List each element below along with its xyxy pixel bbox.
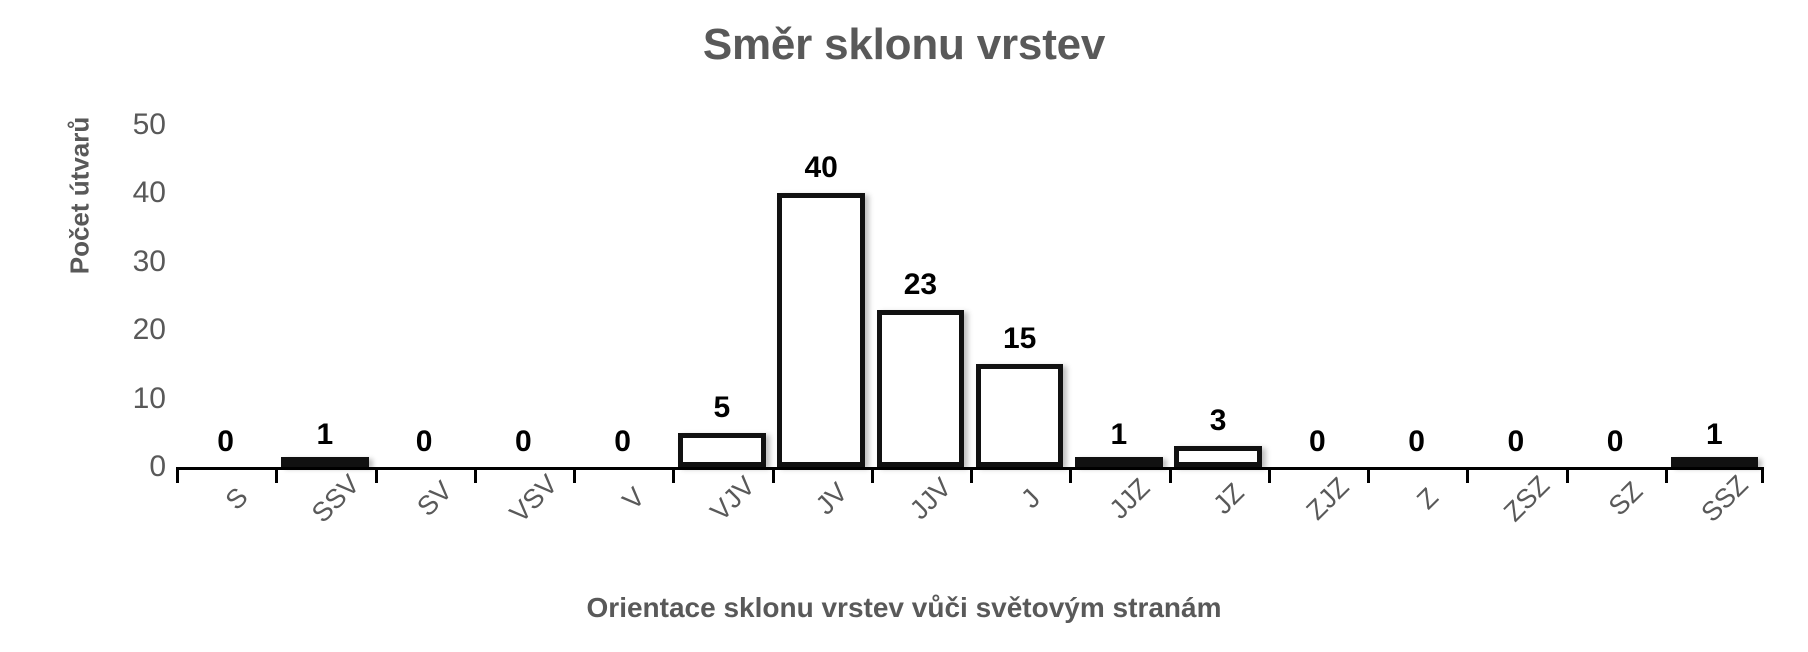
bar-slot: 1 [1665, 125, 1764, 467]
x-axis-tick [176, 470, 179, 483]
bar-slot: 3 [1169, 125, 1268, 467]
y-axis-tick-label: 40 [90, 178, 166, 208]
bar-slot: 0 [474, 125, 573, 467]
y-axis-tick-label: 20 [90, 315, 166, 345]
bar-slot: 0 [1367, 125, 1466, 467]
y-axis-tick-labels: 50403020100 [90, 110, 166, 470]
bar-slot: 0 [375, 125, 474, 467]
bar-value-label: 40 [772, 153, 871, 183]
bar-slot: 5 [672, 125, 771, 467]
bar[interactable] [877, 310, 964, 467]
bar-value-label: 23 [871, 270, 970, 300]
bar-slot: 0 [176, 125, 275, 467]
bar-slot: 15 [970, 125, 1069, 467]
plot-area: 0100054023151300001 [176, 125, 1764, 470]
x-axis-category-labels: SSSVSVVSVVVJVJVJJVJJJZJZZJZZZSZSZSSZ [176, 488, 1764, 558]
chart-title: Směr sklonu vrstev [0, 20, 1808, 70]
bar-value-label: 15 [970, 324, 1069, 354]
bar-slot: 0 [1268, 125, 1367, 467]
bar-value-label: 1 [1665, 420, 1764, 450]
y-axis-tick-label: 10 [90, 384, 166, 414]
bar-slot: 1 [275, 125, 374, 467]
bar-chart: Směr sklonu vrstev Počet útvarů 50403020… [0, 0, 1808, 652]
y-axis-tick-label: 0 [90, 452, 166, 482]
bar-value-label: 1 [275, 420, 374, 450]
bar-slot: 0 [1466, 125, 1565, 467]
bar-slot: 40 [772, 125, 871, 467]
bar-slot: 23 [871, 125, 970, 467]
bar-slot: 0 [573, 125, 672, 467]
bar[interactable] [777, 193, 864, 467]
bar-value-label: 5 [672, 393, 771, 423]
bar[interactable] [976, 364, 1063, 467]
bar-slot: 1 [1069, 125, 1168, 467]
bar-slot: 0 [1566, 125, 1665, 467]
x-axis-title: Orientace sklonu vrstev vůči světovým st… [0, 592, 1808, 624]
bars-layer: 0100054023151300001 [176, 125, 1764, 467]
bar-value-label: 1 [1069, 420, 1168, 450]
y-axis-tick-label: 50 [90, 110, 166, 140]
bar-value-label: 3 [1169, 406, 1268, 436]
y-axis-tick-label: 30 [90, 247, 166, 277]
